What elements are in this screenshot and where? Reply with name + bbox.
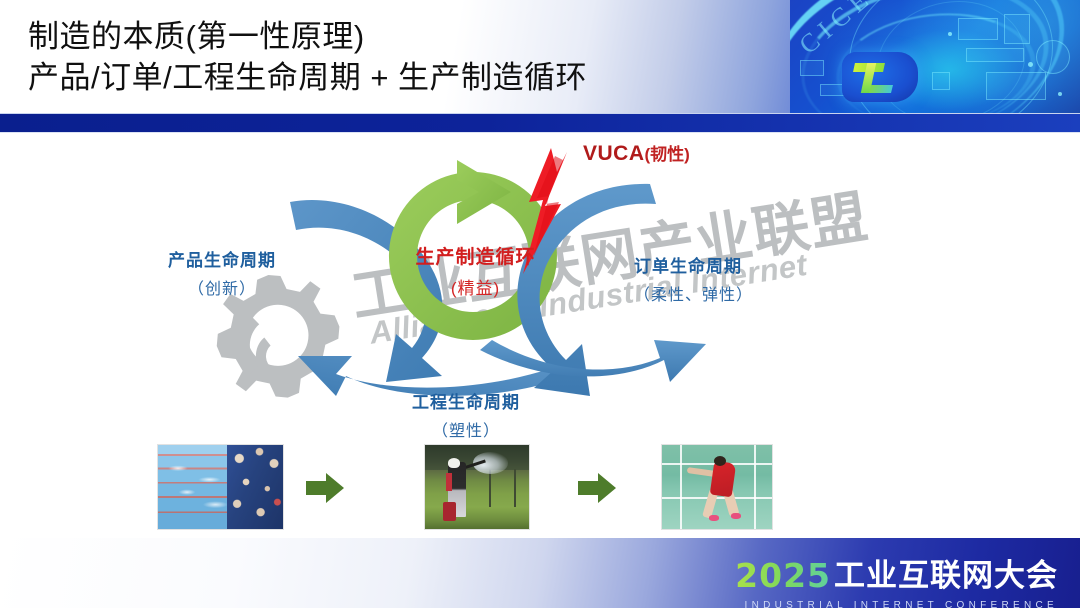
hud-dot-1 [948, 32, 952, 36]
slide-footer: 2025 工业互联网大会 INDUSTRIAL INTERNET CONFERE… [0, 538, 1080, 608]
shooting-post-1 [489, 469, 491, 508]
badminton-torso [709, 460, 735, 496]
badminton-shoe-front [709, 515, 719, 521]
vuca-label-en: VUCA [583, 142, 645, 165]
hud-panel-1 [958, 18, 998, 40]
hud-dot-2 [1028, 62, 1033, 67]
shooting-post-2 [514, 469, 516, 508]
badminton-head [714, 456, 726, 466]
shooting-photo [424, 444, 530, 530]
slide-body: 工业互联网产业联盟 Alliance of Industrial Interne… [0, 134, 1080, 538]
cycle-center-label: 生产制造循环 (精益) [398, 242, 553, 299]
right-arrow-icon [306, 472, 344, 504]
label-order-lifecycle-main: 订单生命周期 [634, 252, 753, 277]
hud-panel-3 [966, 48, 1024, 62]
label-order-lifecycle: 订单生命周期 （柔性、弹性） [634, 252, 753, 305]
vuca-label: VUCA(韧性) [583, 140, 690, 166]
label-product-lifecycle: 产品生命周期 （创新） [168, 246, 276, 299]
photo-strip [0, 444, 1080, 538]
slide-header: CICE 制造的本质(第一性原理) [0, 0, 1080, 113]
footer-conference-cn: 工业互联网大会 [834, 550, 1058, 595]
shooting-athlete-trim [446, 473, 452, 491]
label-order-lifecycle-sub: （柔性、弹性） [634, 281, 753, 305]
label-product-lifecycle-main: 产品生命周期 [168, 246, 276, 271]
title-line-1: 制造的本质(第一性原理) [28, 16, 587, 57]
page-title: 制造的本质(第一性原理) 产品/订单/工程生命周期 + 生产制造循环 [28, 16, 587, 98]
court-line-right [754, 445, 756, 529]
hud-panel-5 [986, 72, 1046, 100]
shooting-athlete-cap [448, 458, 460, 468]
header-accent-bar [0, 113, 1080, 133]
hud-dot-4 [1058, 92, 1062, 96]
title-line-2: 产品/订单/工程生命周期 + 生产制造循环 [28, 57, 587, 98]
badminton-photo [661, 444, 773, 530]
logo-stroke-foot [869, 85, 893, 93]
label-engineering-lifecycle-main: 工程生命周期 [412, 388, 520, 413]
conference-t-logo [842, 52, 918, 102]
label-product-lifecycle-sub: （创新） [168, 275, 276, 299]
right-arrow-icon [578, 472, 616, 504]
label-engineering-lifecycle-sub: （塑性） [412, 417, 520, 441]
hud-panel-7 [800, 60, 824, 76]
hud-panel-6 [932, 72, 950, 90]
slide: CICE 制造的本质(第一性原理) [0, 0, 1080, 608]
label-engineering-lifecycle: 工程生命周期 （塑性） [412, 388, 520, 441]
swimming-photo [157, 444, 284, 530]
footer-conference-en: INDUSTRIAL INTERNET CONFERENCE [735, 600, 1058, 608]
hud-panel-4 [1036, 40, 1070, 74]
footer-year: 2025 [735, 556, 831, 595]
header-tech-graphic: CICE [790, 0, 1080, 113]
vuca-label-cn: (韧性) [645, 145, 690, 164]
ribbon-order-return [480, 340, 706, 382]
badminton-shoe-back [731, 513, 741, 519]
swimming-crowd [227, 445, 283, 529]
cycle-center-main: 生产制造循环 [398, 242, 553, 269]
cycle-center-sub: (精益) [398, 274, 553, 299]
conference-footer-logo: 2025 工业互联网大会 INDUSTRIAL INTERNET CONFERE… [735, 550, 1058, 608]
hud-panel-2 [1004, 14, 1030, 44]
court-line-left [680, 445, 682, 529]
shooting-gear-bag [443, 502, 457, 520]
